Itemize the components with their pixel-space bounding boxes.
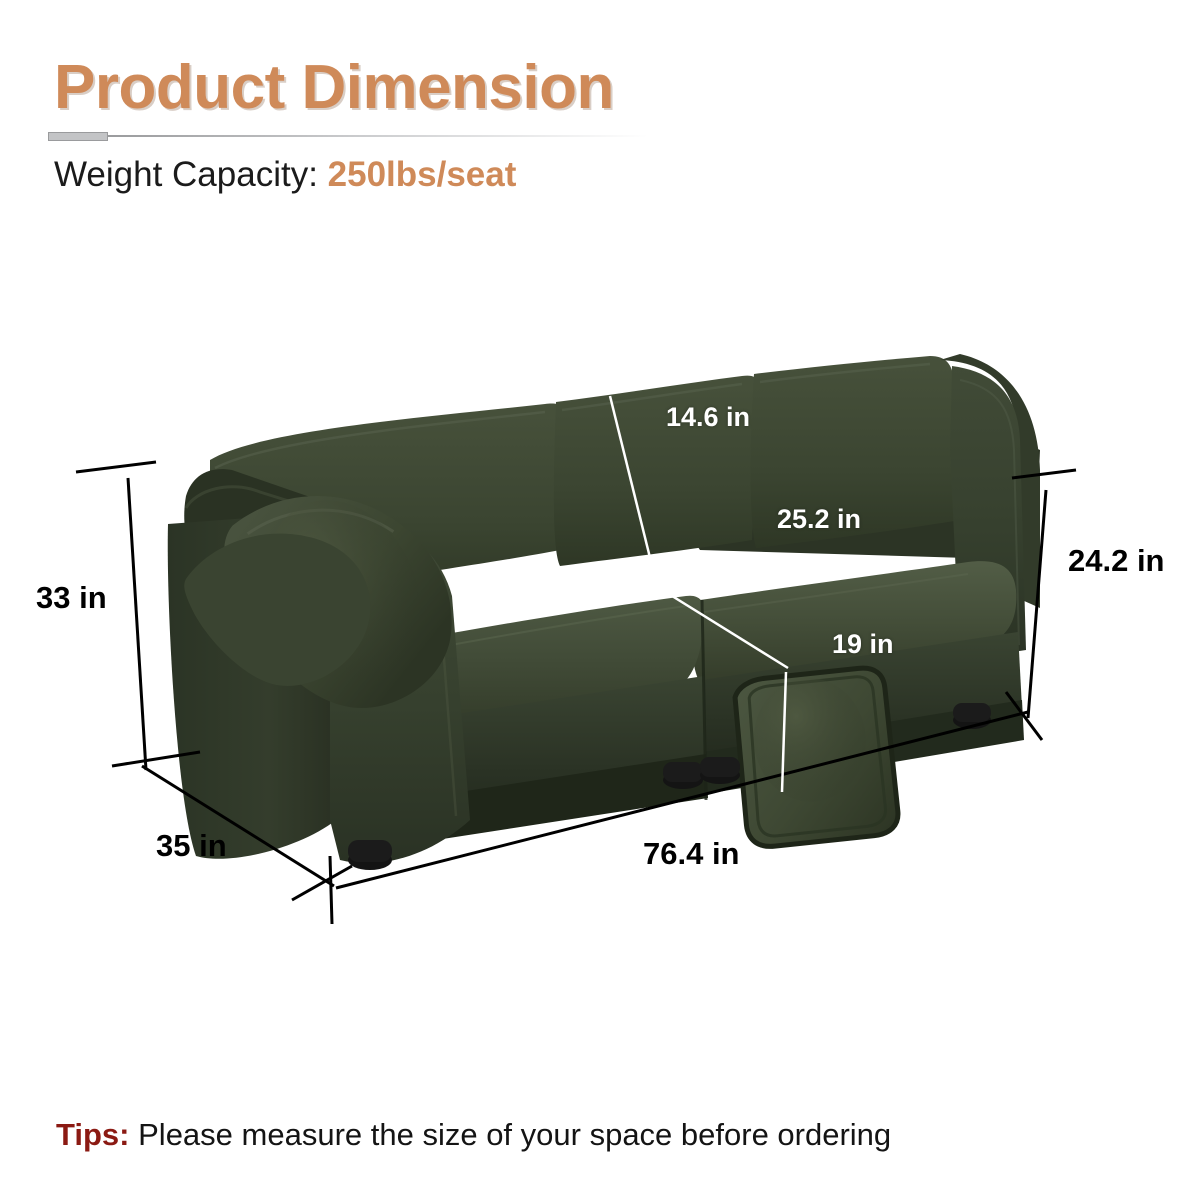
tips-text: Please measure the size of your space be…	[138, 1117, 891, 1152]
throw-pillow-right	[731, 666, 900, 849]
tick-corner	[330, 856, 332, 924]
divider-thin-segment	[108, 135, 648, 137]
dimension-label-overall-depth: 35 in	[156, 828, 227, 864]
weight-capacity: Weight Capacity: 250lbs/seat	[54, 155, 516, 195]
sofa-foot	[953, 703, 991, 722]
dimension-label-seat-height: 19 in	[832, 629, 894, 660]
dimension-label-overall-width: 76.4 in	[643, 836, 740, 872]
page-title: Product Dimension	[54, 52, 614, 123]
sofa-foot	[663, 762, 703, 782]
line-overall-height	[128, 478, 146, 770]
weight-capacity-label: Weight Capacity:	[54, 155, 318, 194]
dimension-label-seat-depth: 25.2 in	[777, 504, 861, 535]
sofa-illustration: 33 in 35 in 76.4 in 24.2 in 14.6 in 25.2…	[0, 300, 1200, 980]
weight-capacity-value: 250lbs/seat	[328, 155, 517, 194]
sofa-foot	[348, 840, 392, 862]
divider-thick-segment	[48, 132, 108, 141]
dimension-label-back-cushion-height: 14.6 in	[666, 402, 750, 433]
tips-note: Tips: Please measure the size of your sp…	[56, 1117, 891, 1153]
tips-label: Tips:	[56, 1117, 130, 1152]
tick-depth-end	[292, 866, 352, 900]
product-dimension-infographic: Product Dimension Weight Capacity: 250lb…	[0, 0, 1200, 1200]
sofa-body	[168, 354, 1040, 870]
sofa-foot	[700, 757, 740, 777]
title-divider	[48, 132, 648, 142]
dimension-label-overall-height: 33 in	[36, 580, 107, 616]
tick-height-top	[76, 462, 156, 472]
dimension-label-arm-height: 24.2 in	[1068, 543, 1165, 579]
